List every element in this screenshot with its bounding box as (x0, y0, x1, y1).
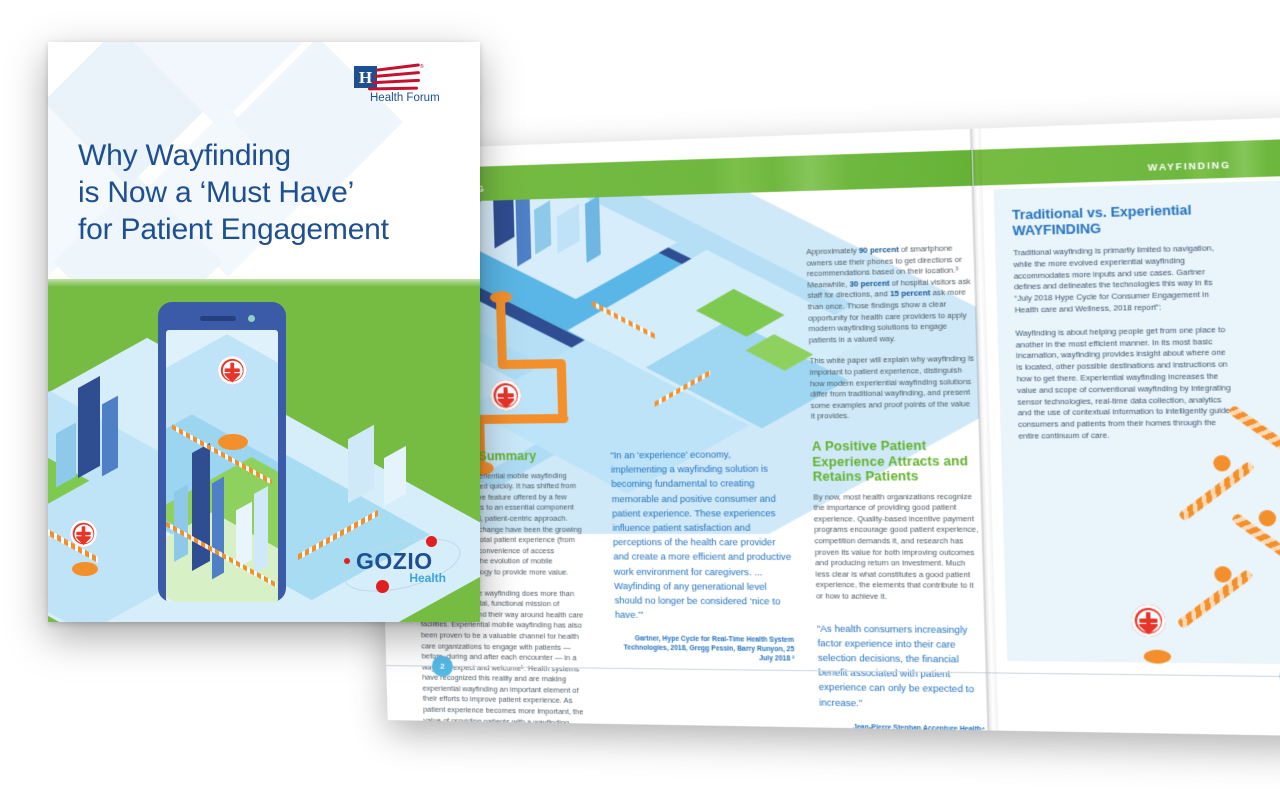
route-endpoint (1144, 650, 1172, 664)
sidebar-text-block: Traditional vs. ExperientialWAYFINDING T… (1012, 202, 1234, 455)
phone-screen (166, 330, 278, 602)
iso-building (515, 191, 531, 266)
sidebar-heading: Traditional vs. ExperientialWAYFINDING (1012, 202, 1227, 240)
route-segment (475, 414, 569, 424)
sidebar-paragraph-1: Traditional wayfinding is primarily limi… (1013, 243, 1230, 317)
hospital-pin-icon (218, 356, 247, 394)
gozio-wordmark: GOZIO (356, 550, 433, 573)
route-segment (498, 359, 565, 369)
health-forum-wordmark: Health Forum (370, 92, 440, 104)
heading-positive-patient-experience: A Positive Patient Experience Attracts a… (812, 438, 978, 485)
patient-experience-paragraph: By now, most health organizations recogn… (813, 491, 981, 603)
screenshot-canvas: WAYFINDING (0, 0, 1280, 800)
hospital-pin-icon (1131, 605, 1166, 648)
route-waypoint (1213, 455, 1231, 471)
phone-speaker (200, 316, 236, 321)
hospital-pin-icon (70, 520, 97, 556)
pull-quote-1: “In an ‘experience’ economy, implementin… (610, 447, 793, 624)
gozio-subtitle: Health (409, 572, 446, 584)
pull-quote-1-attribution: Gartner, Hype Cycle for Real-Time Health… (616, 635, 795, 665)
iso-building (102, 396, 118, 477)
spread-page-right: WAYFINDING Traditional vs. ExperientialW… (971, 116, 1280, 737)
gozio-dot-icon (344, 558, 350, 564)
inner-spread: WAYFINDING (372, 116, 1280, 748)
running-head-bar-right: WAYFINDING (973, 137, 1280, 185)
gozio-dot-icon (376, 580, 389, 593)
route-endpoint (72, 562, 98, 576)
pull-quote-2-attribution: Jean-Pierre Stephan Accenture Health⁴ (820, 722, 985, 730)
column-pull-quote: “In an ‘experience’ economy, implementin… (610, 447, 794, 664)
registered-trademark-icon: ® (420, 64, 424, 70)
phone-camera-icon (248, 315, 255, 322)
route-waypoint (1214, 566, 1232, 582)
cover-page: H ® Health Forum Why Wayfinding is Now a… (48, 42, 480, 622)
hospital-pin-icon (490, 380, 521, 421)
iso-building (78, 376, 100, 478)
stats-paragraph: Approximately 90 percent of smartphone o… (806, 243, 974, 346)
stat-30-percent: 30 percent (849, 278, 889, 288)
running-head-right-label: WAYFINDING (1148, 159, 1231, 172)
page-number-left: 2 (432, 656, 454, 677)
health-forum-logo: H ® Health Forum (344, 64, 454, 116)
sidebar-traditional-vs-experiential: Traditional vs. ExperientialWAYFINDING T… (994, 179, 1280, 664)
white-paper-scope-paragraph: This white paper will explain why wayfin… (809, 354, 976, 423)
iso-building (585, 195, 601, 262)
iso-building (56, 422, 76, 487)
stat-15-percent: 15 percent (890, 288, 931, 298)
route-segment (496, 297, 507, 368)
route-segment (557, 359, 568, 418)
column-statistics: Approximately 90 percent of smartphone o… (806, 243, 985, 731)
gozio-health-logo: GOZIO Health (342, 536, 460, 596)
route-segment (1228, 405, 1280, 465)
sidebar-paragraph-2: Wayfinding is about helping people get f… (1015, 324, 1233, 442)
page-footer-rule-right (988, 672, 1280, 678)
iso-building (534, 200, 551, 254)
route-waypoint (1258, 510, 1276, 526)
spread-pages: WAYFINDING (372, 116, 1280, 737)
pull-quote-2: “As health consumers increasingly factor… (817, 621, 985, 712)
gozio-dot-icon (426, 536, 437, 547)
stat-90-percent: 90 percent (859, 245, 899, 255)
